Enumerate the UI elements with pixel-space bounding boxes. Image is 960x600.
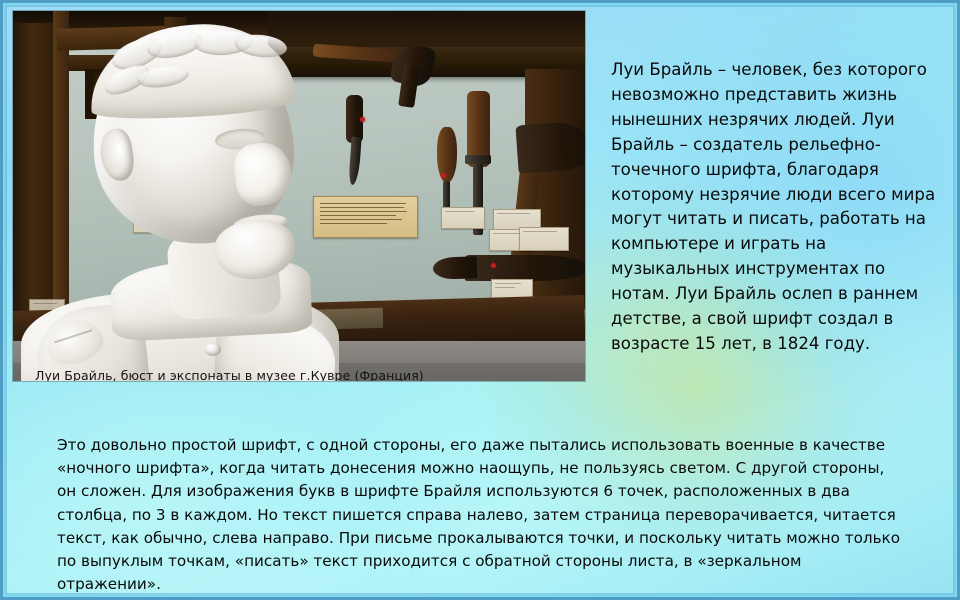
photo-caption: Луи Брайль, бюст и экспонаты в музее г.К… bbox=[35, 368, 424, 381]
museum-photo: Луи Брайль, бюст и экспонаты в музее г.К… bbox=[13, 11, 585, 381]
braille-bust bbox=[19, 25, 349, 381]
tool-awl-handle bbox=[437, 127, 457, 183]
exhibit-label bbox=[441, 207, 485, 229]
bottom-paragraph: Это довольно простой шрифт, с одной стор… bbox=[57, 434, 905, 596]
tool-shears bbox=[465, 255, 585, 281]
tool-shears-marker bbox=[491, 263, 496, 268]
right-paragraph: Луи Брайль – человек, без которого невоз… bbox=[611, 58, 945, 357]
tool-awl-marker bbox=[441, 173, 446, 178]
presentation-slide: Луи Брайль, бюст и экспонаты в музее г.К… bbox=[0, 0, 960, 600]
exhibit-label bbox=[519, 227, 569, 251]
tool-shears-point bbox=[433, 256, 478, 280]
tool-adze-head bbox=[515, 120, 585, 173]
bust-coat-button bbox=[205, 343, 221, 356]
tool-chisel-ferrule bbox=[465, 155, 491, 164]
tool-pin-marker bbox=[360, 117, 365, 122]
